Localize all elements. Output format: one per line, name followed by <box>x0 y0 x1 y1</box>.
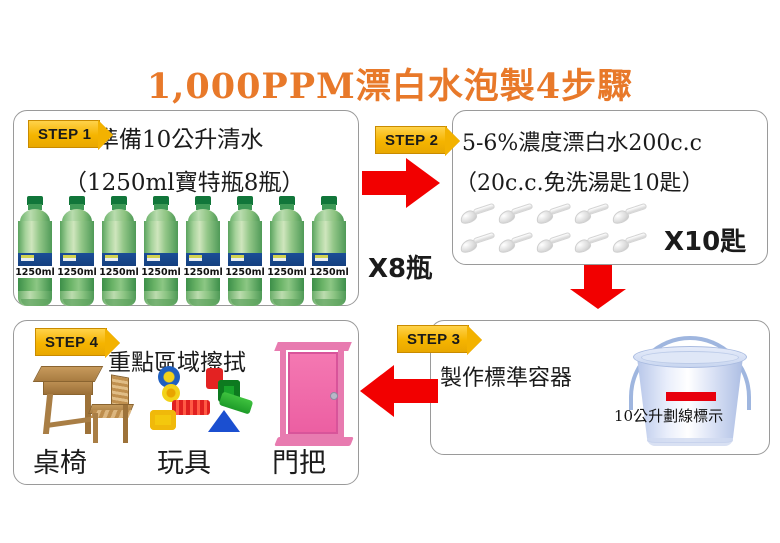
spoon-item <box>498 232 534 254</box>
step-1-count-label: X8瓶 <box>368 248 432 285</box>
spoon-item <box>574 232 610 254</box>
desk-and-chair-icon <box>35 360 140 448</box>
step-1-text-line2: （1250ml寶特瓶8瓶） <box>64 163 304 197</box>
bottle-item: 1250ml <box>56 196 98 306</box>
item-caption-door: 門把 <box>272 441 326 480</box>
arrow-step3-to-step4 <box>360 365 438 417</box>
bottle-base-icon <box>102 291 136 306</box>
spoon-handle-icon <box>511 203 534 216</box>
item-caption-toys: 玩具 <box>157 441 211 480</box>
spoon-item <box>536 203 572 225</box>
spoon-item <box>498 203 534 225</box>
bottle-volume-caption: 1250ml <box>12 267 58 278</box>
bottle-base-icon <box>60 291 94 306</box>
bottle-volume-caption: 1250ml <box>222 267 268 278</box>
bottle-volume-caption: 1250ml <box>138 267 184 278</box>
bottle-label-mark-icon <box>231 255 244 261</box>
bucket-base-icon <box>647 438 733 446</box>
page-title: 1,000PPM漂白水泡製4步驟 <box>0 58 780 109</box>
bottle-volume-caption: 1250ml <box>54 267 100 278</box>
bottle-lower-band-icon <box>186 278 220 291</box>
bucket-inner-rim-icon <box>641 351 739 364</box>
bucket-10l-mark-icon <box>666 392 716 401</box>
bottle-label-mark-icon <box>21 255 34 261</box>
item-caption-desk: 桌椅 <box>33 441 87 480</box>
bottle-item: 1250ml <box>14 196 56 306</box>
door-handle-icon <box>276 342 354 447</box>
bottle-base-icon <box>312 291 346 306</box>
step-3-badge: STEP 3 <box>397 325 469 353</box>
bottle-label-mark-icon <box>63 255 76 261</box>
spoon-item <box>536 232 572 254</box>
bottle-item: 1250ml <box>224 196 266 306</box>
spoon-handle-icon <box>587 232 610 245</box>
spoon-item <box>612 232 648 254</box>
step-4-badge: STEP 4 <box>35 328 107 356</box>
arrow-step1-to-step2 <box>362 158 440 208</box>
spoon-item <box>460 232 496 254</box>
spoon-handle-icon <box>549 232 572 245</box>
spoon-handle-icon <box>473 203 496 216</box>
step-4-badge-label: STEP 4 <box>45 334 98 351</box>
infographic-canvas: 1,000PPM漂白水泡製4步驟 STEP 1 準備10公升清水 （1250ml… <box>0 0 780 543</box>
bottle-lower-band-icon <box>102 278 136 291</box>
bottle-item: 1250ml <box>182 196 224 306</box>
bottle-base-icon <box>18 291 52 306</box>
spoon-handle-icon <box>587 203 610 216</box>
spoon-item <box>574 203 610 225</box>
arrow-step2-to-step3 <box>570 265 626 309</box>
spoon-handle-icon <box>625 232 648 245</box>
spoon-handle-icon <box>625 203 648 216</box>
bottle-lower-band-icon <box>60 278 94 291</box>
bottle-label-mark-icon <box>105 255 118 261</box>
bottle-base-icon <box>228 291 262 306</box>
bottle-volume-caption: 1250ml <box>264 267 310 278</box>
bottle-label-mark-icon <box>189 255 202 261</box>
bottle-volume-caption: 1250ml <box>180 267 226 278</box>
toy-yellow-nut-icon <box>150 410 176 430</box>
bottle-lower-band-icon <box>270 278 304 291</box>
bottle-label-mark-icon <box>273 255 286 261</box>
step-2-count-label: X10匙 <box>664 221 746 258</box>
bottle-row: 1250ml 1250ml 1250ml <box>14 196 354 306</box>
step-2-text-line1: 5-6%濃度漂白水200c.c <box>462 125 702 157</box>
chair-back-icon <box>111 374 129 407</box>
step-1-badge: STEP 1 <box>28 120 100 148</box>
badge-arrow-tip-icon <box>445 126 460 156</box>
door-knob-icon <box>330 392 338 400</box>
bottle-base-icon <box>270 291 304 306</box>
badge-arrow-tip-icon <box>98 120 113 150</box>
bottle-label-mark-icon <box>315 255 328 261</box>
bottle-base-icon <box>144 291 178 306</box>
bottle-lower-band-icon <box>228 278 262 291</box>
step-1-badge-label: STEP 1 <box>38 126 91 143</box>
toy-red-bolt-icon <box>172 400 210 415</box>
bucket-mark-label: 10公升劃線標示 <box>614 405 723 426</box>
bottle-volume-caption: 1250ml <box>96 267 142 278</box>
desk-drawer-icon <box>43 381 93 395</box>
step-2-badge: STEP 2 <box>375 126 447 154</box>
spoon-item <box>460 203 496 225</box>
spoon-handle-icon <box>549 203 572 216</box>
step-3-text-line1: 製作標準容器 <box>440 360 572 392</box>
spoon-handle-icon <box>473 232 496 245</box>
desk-leg-icon <box>85 394 91 434</box>
bottle-lower-band-icon <box>18 278 52 291</box>
bucket-icon <box>625 330 755 448</box>
badge-arrow-tip-icon <box>105 328 120 358</box>
step-1-text-line1: 準備10公升清水 <box>96 120 263 154</box>
bottle-lower-band-icon <box>144 278 178 291</box>
bottle-lower-band-icon <box>312 278 346 291</box>
toy-blue-triangle-icon <box>208 410 240 432</box>
spoon-item <box>612 203 648 225</box>
bottle-item: 1250ml <box>308 196 350 306</box>
bottle-item: 1250ml <box>140 196 182 306</box>
bottle-label-mark-icon <box>147 255 160 261</box>
spoon-group <box>460 203 655 261</box>
step-2-text-line2: （20c.c.免洗湯匙10匙） <box>455 165 704 197</box>
bottle-base-icon <box>186 291 220 306</box>
spoon-handle-icon <box>511 232 534 245</box>
badge-arrow-tip-icon <box>467 325 482 355</box>
step-3-badge-label: STEP 3 <box>407 331 460 348</box>
desk-top-icon <box>33 366 104 382</box>
chair-leg-icon <box>123 405 128 443</box>
toys-icon <box>150 362 258 442</box>
bottle-item: 1250ml <box>98 196 140 306</box>
bottle-volume-caption: 1250ml <box>306 267 352 278</box>
step-2-badge-label: STEP 2 <box>385 132 438 149</box>
chair-leg-icon <box>93 413 98 443</box>
bottle-item: 1250ml <box>266 196 308 306</box>
